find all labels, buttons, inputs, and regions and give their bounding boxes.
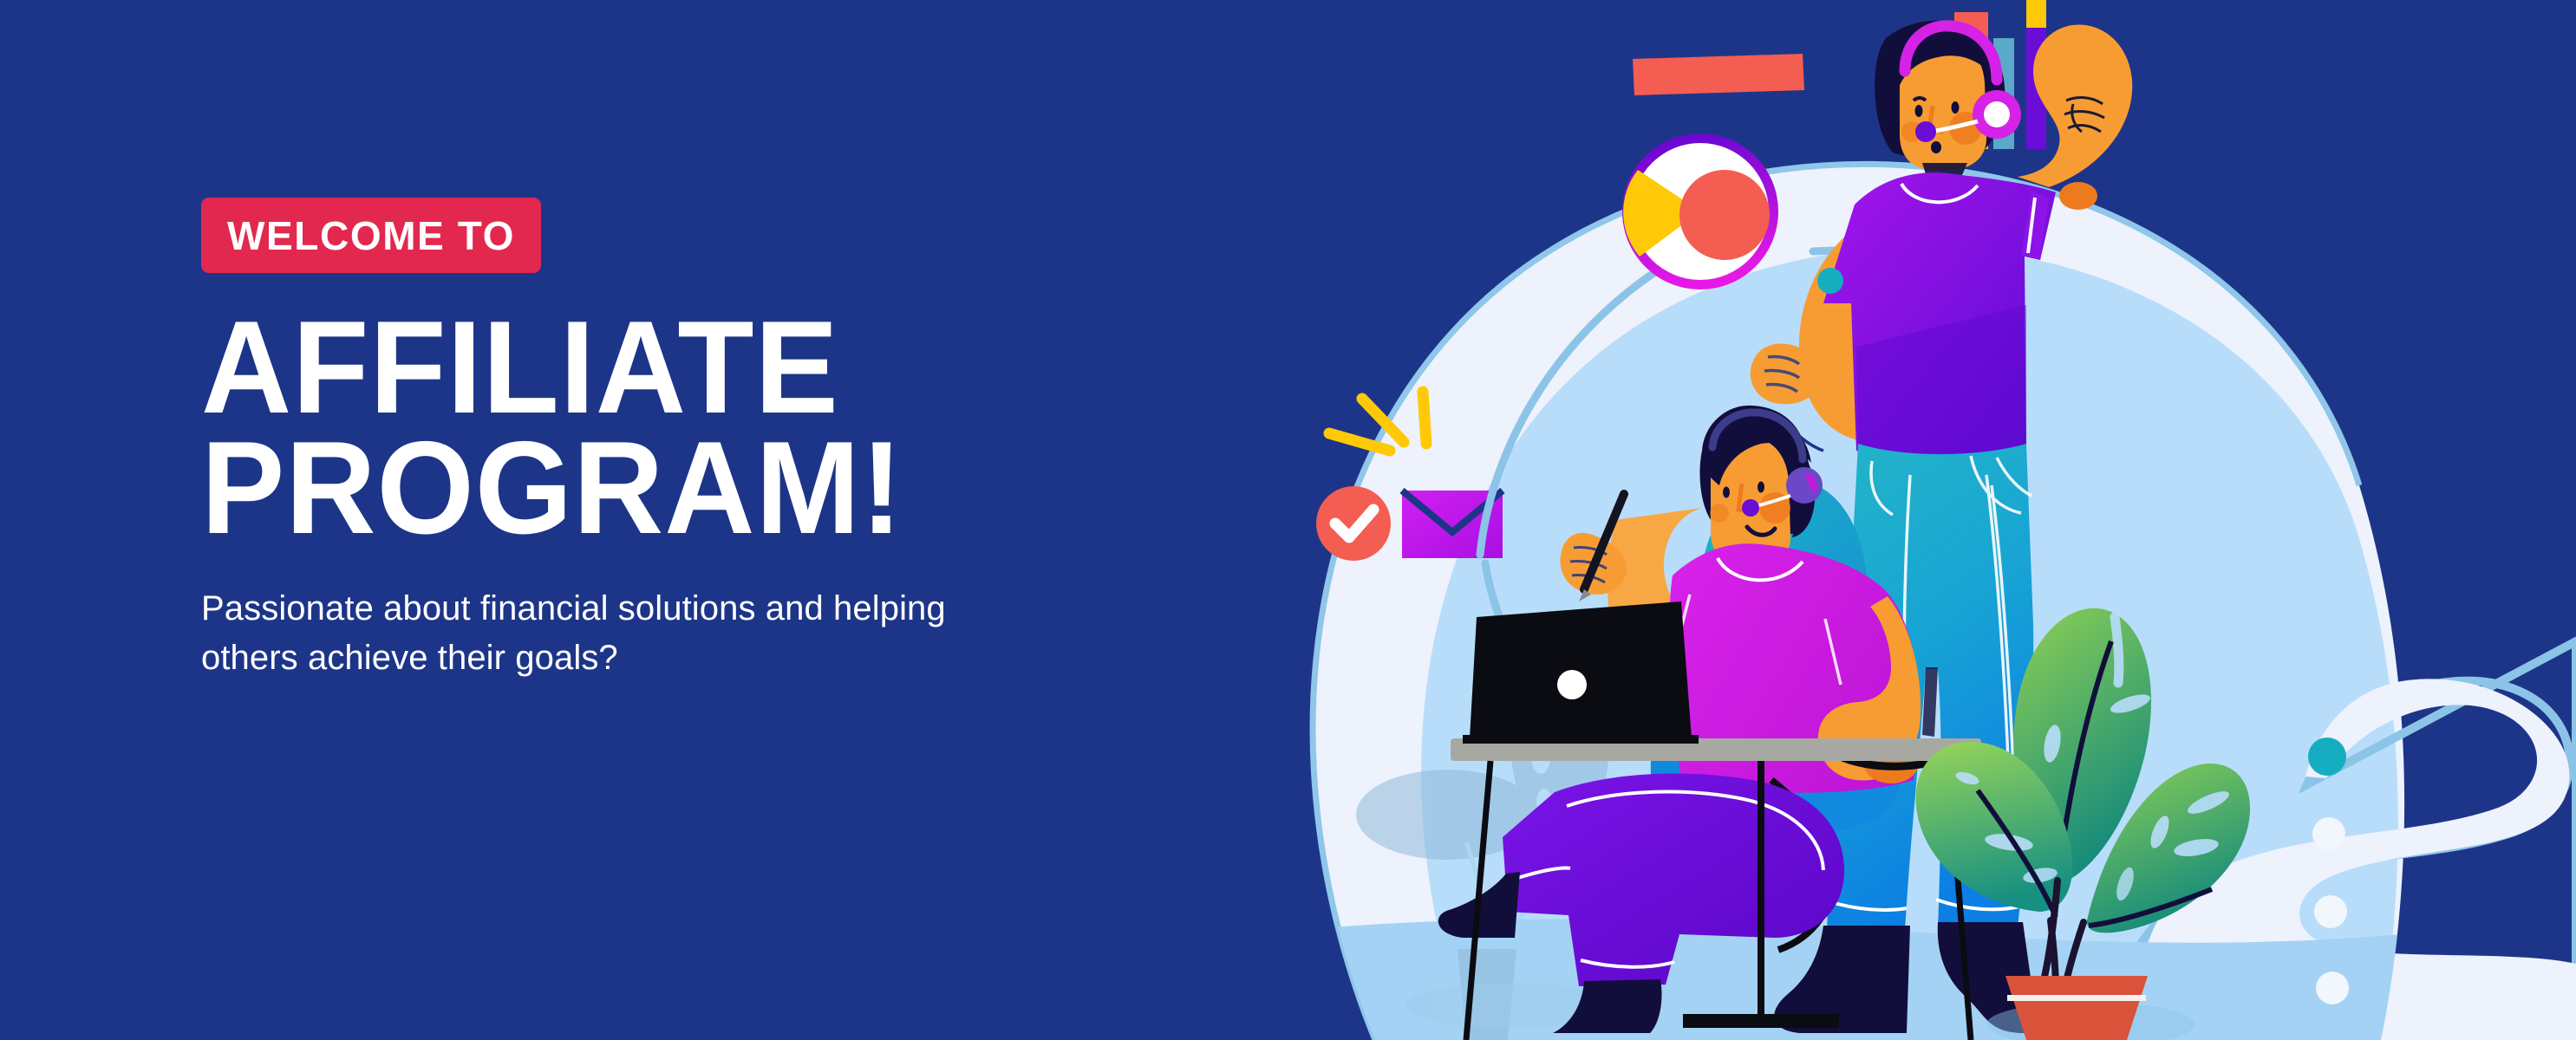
dot-2 (2312, 817, 2345, 850)
plant-pot-stripe (2007, 995, 2146, 1001)
check-badge-icon (1316, 486, 1391, 561)
seated-eye-left (1723, 487, 1730, 498)
banner-subtitle: Passionate about financial solutions and… (201, 584, 1034, 683)
dot-4 (2316, 972, 2349, 1004)
standing-eye-right (1952, 101, 1960, 114)
dot-1 (2308, 738, 2346, 776)
standing-headset-earcup-inner (1984, 101, 2010, 127)
laptop-logo (1557, 670, 1587, 699)
affiliate-program-banner: WELCOME TO AFFILIATE PROGRAM! Passionate… (0, 0, 2576, 1040)
welcome-badge: WELCOME TO (201, 198, 541, 273)
desk-base (1683, 1014, 1839, 1028)
hero-illustration (1293, 0, 2576, 1040)
desk-pole (1758, 761, 1764, 1017)
seated-cheek-2 (1710, 504, 1729, 523)
illustration-canvas (1293, 0, 2576, 1040)
standing-elbow-shade (2059, 182, 2097, 210)
laptop-screen (1470, 601, 1692, 738)
standing-headset-mic (1915, 121, 1936, 142)
sparkle-line-3 (1423, 392, 1426, 444)
standing-mouth (1931, 141, 1941, 153)
seated-headset-mic (1742, 499, 1759, 517)
laptop (1463, 601, 1699, 744)
pie-overlay-circle (1679, 170, 1770, 260)
dot-3 (2314, 895, 2347, 928)
banner-copy: WELCOME TO AFFILIATE PROGRAM! Passionate… (201, 198, 1120, 683)
seated-headset-earcup (1786, 467, 1823, 504)
standing-eye-left (1915, 105, 1923, 117)
check-badge-circle (1316, 486, 1391, 561)
headline-line-1: AFFILIATE (201, 311, 1074, 425)
pie-chart-top-bar (1633, 54, 1804, 95)
laptop-base (1463, 735, 1699, 744)
bar-3-segment-yellow (2026, 0, 2046, 28)
seated-eye-right (1758, 482, 1764, 493)
plant-leaf-center-notch-1 (2115, 617, 2119, 683)
plant-pot (2005, 976, 2148, 1040)
standing-teal-dot (1817, 268, 1843, 294)
headline-line-2: PROGRAM! (201, 432, 1074, 545)
